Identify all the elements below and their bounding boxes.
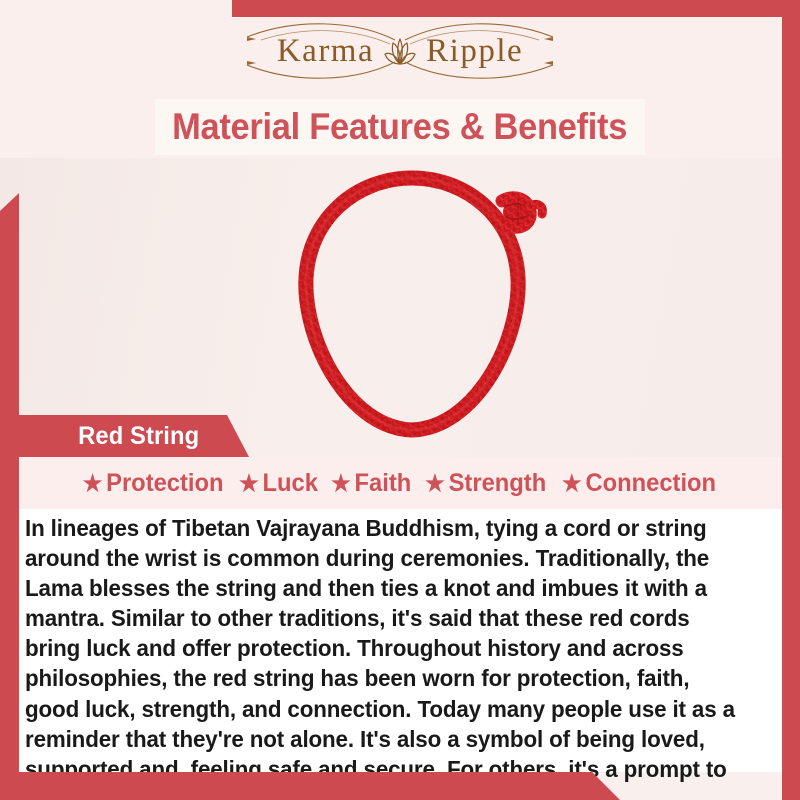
material-name-label: Red String [78,422,199,451]
brand-logo: Karma Ripple [235,16,565,86]
brand-word-right: Ripple [426,35,523,68]
description-paragraph: In lineages of Tibetan Vajrayana Buddhis… [25,513,744,800]
star-icon: ★ [425,472,445,495]
description-area: In lineages of Tibetan Vajrayana Buddhis… [19,509,782,772]
page-title: Material Features & Benefits [173,106,628,148]
frame-accent-left [0,193,19,800]
benefits-strip: ★ Protection ★ Luck ★ Faith ★ Strength ★… [0,457,800,509]
title-plate: Material Features & Benefits [155,99,645,155]
benefit-faith: ★ Faith [331,469,411,498]
star-icon: ★ [83,472,103,495]
frame-accent-right [782,0,800,800]
benefit-connection: ★ Connection [562,469,716,498]
benefit-protection: ★ Protection [83,469,224,498]
material-name-ribbon: Red String [19,415,249,457]
product-image [262,166,562,451]
infographic-page: Karma Ripple Material Features & Benefit… [0,0,800,800]
benefit-label: Faith [354,469,411,498]
frame-accent-bottom [0,772,620,800]
benefit-strength: ★ Strength [425,469,546,498]
star-icon: ★ [562,472,582,495]
benefit-label: Protection [107,469,224,498]
frame-accent-top [232,0,800,17]
brand-word-left: Karma [277,35,374,68]
benefit-label: Connection [586,469,717,498]
benefit-label: Strength [449,469,547,498]
bracelet-illustration-icon [262,166,562,451]
benefit-label: Luck [262,469,317,498]
product-photo-band [0,158,800,457]
star-icon: ★ [331,472,351,495]
benefit-luck: ★ Luck [239,469,318,498]
lotus-icon [380,34,420,68]
star-icon: ★ [239,472,259,495]
